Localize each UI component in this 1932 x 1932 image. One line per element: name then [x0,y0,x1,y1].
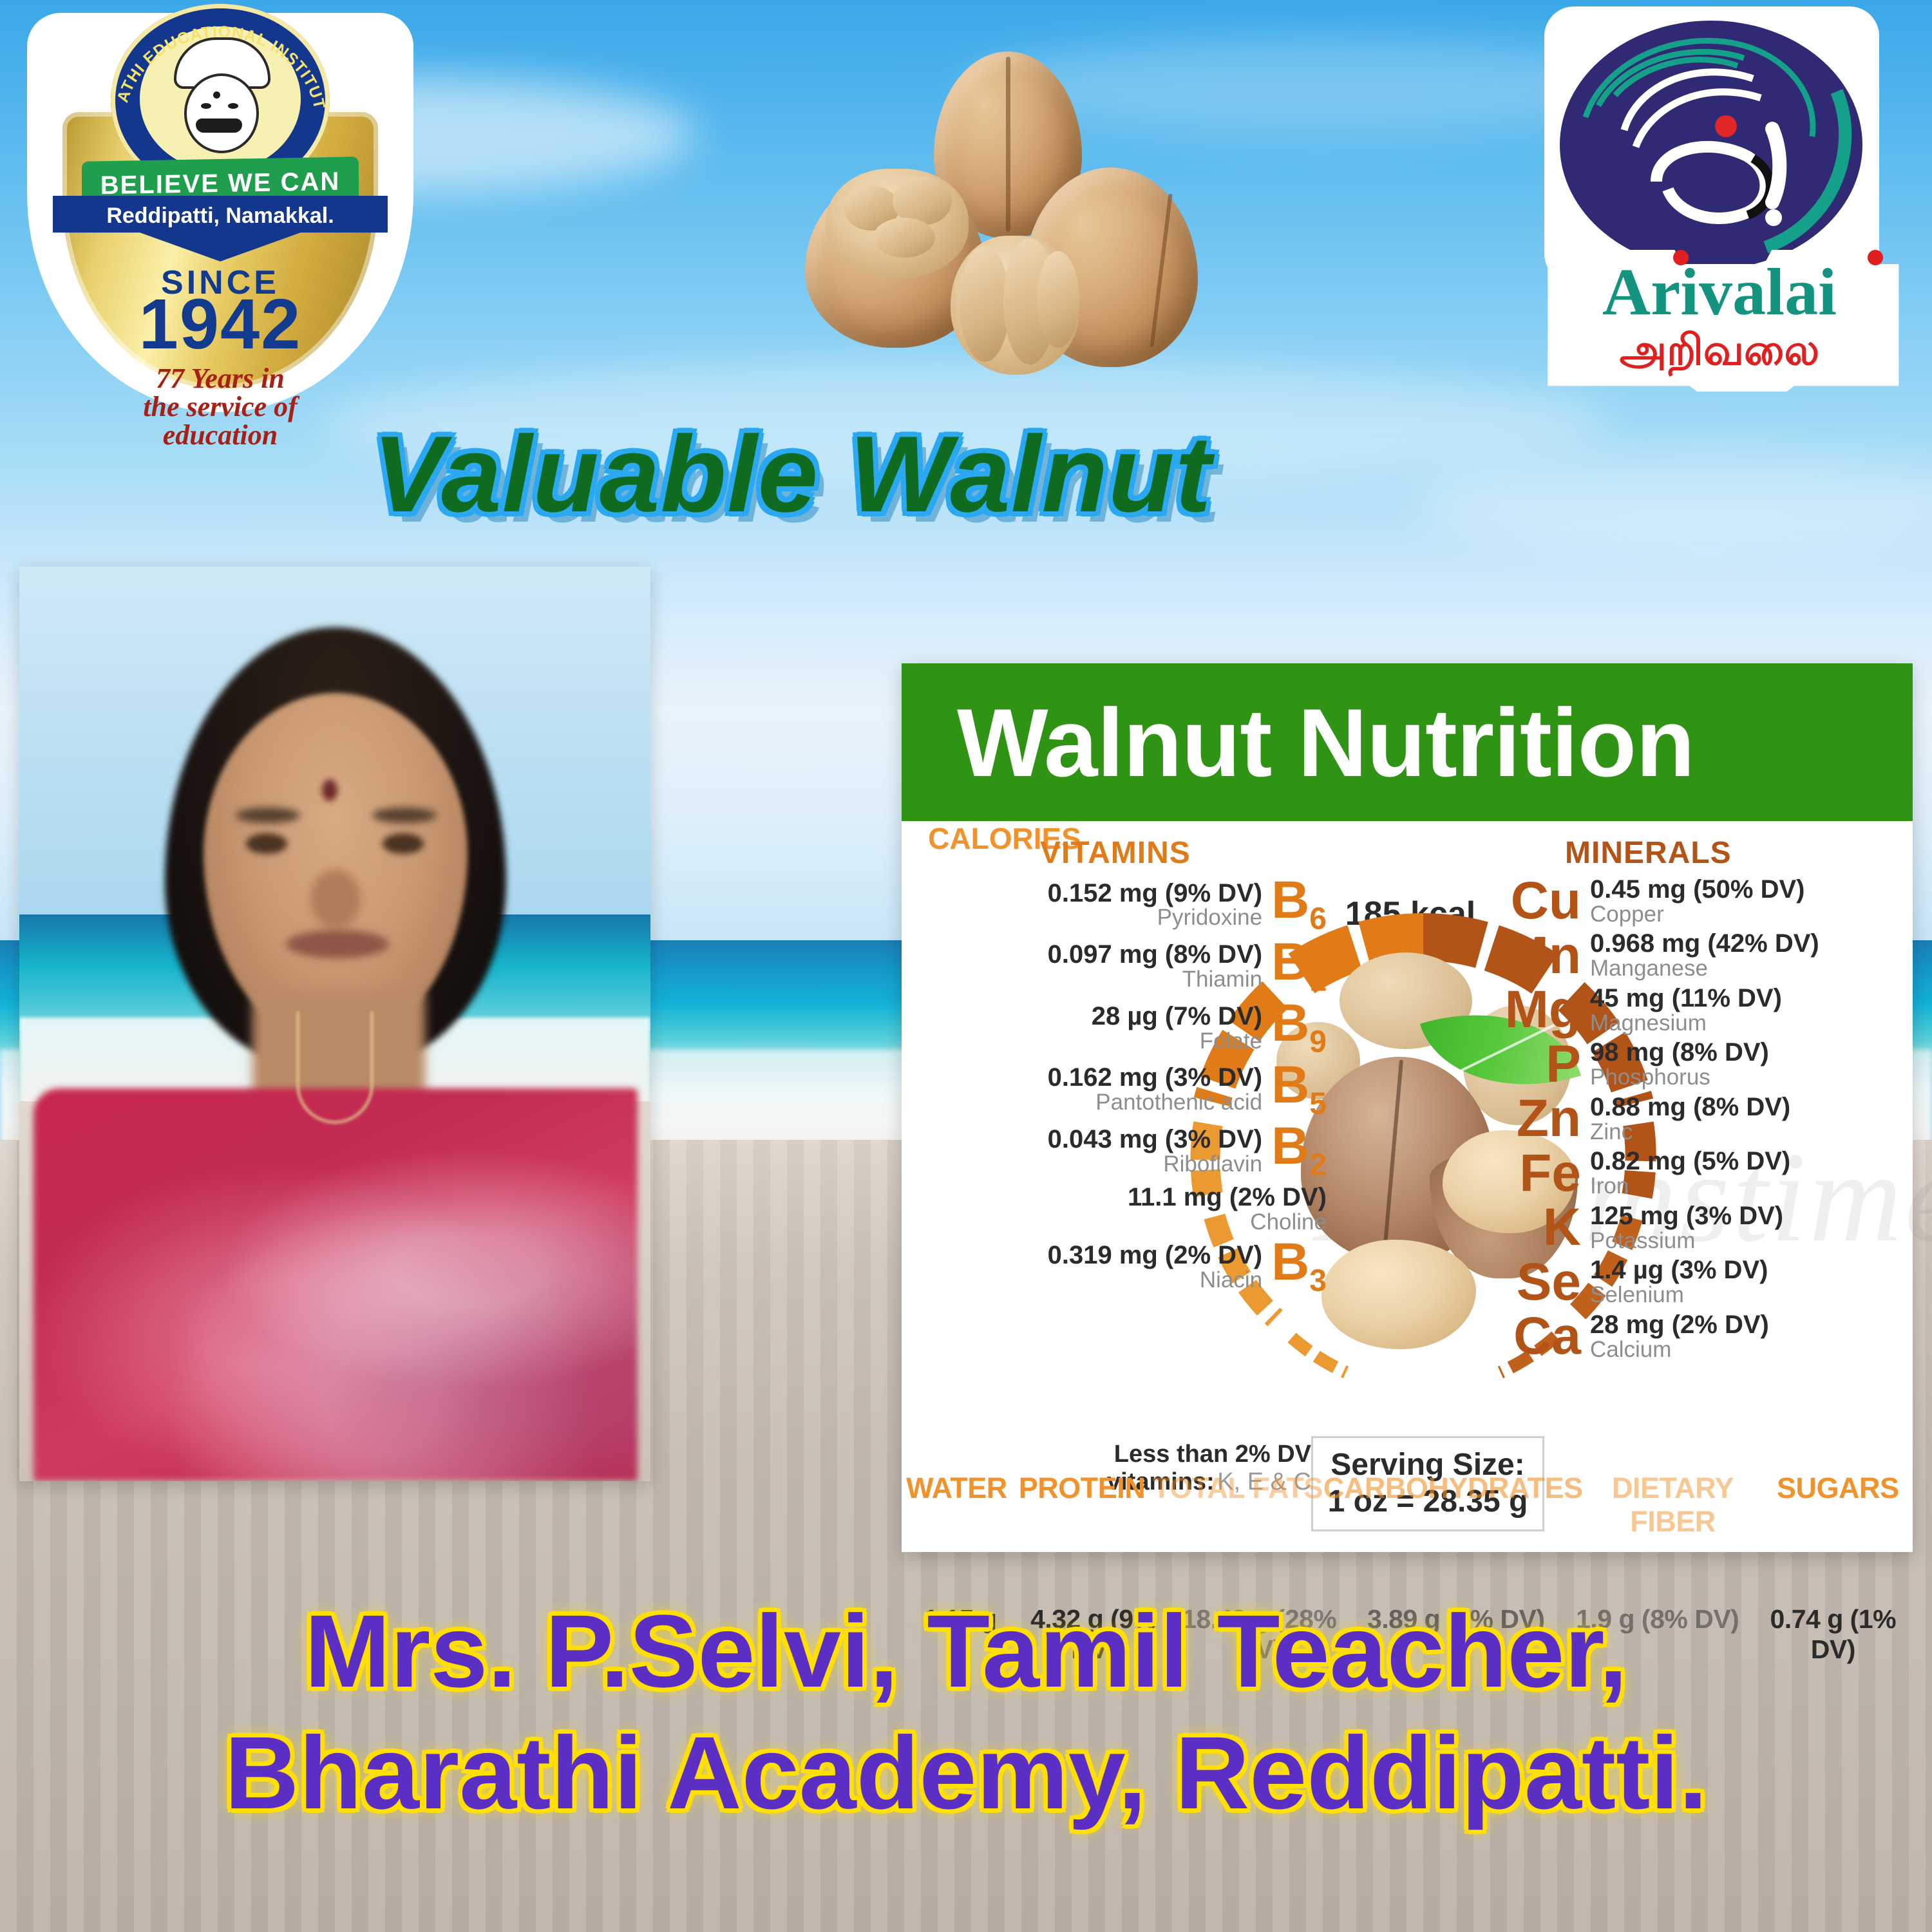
vitamin-row: 28 µg (7% DV)FolateB9 [902,999,1327,1056]
nutrient-amount: 0.88 mg (8% DV) [1590,1094,1790,1121]
nutrient-name: Choline [1250,1211,1327,1234]
nutrient-name: Phosphorus [1590,1066,1710,1089]
face-shape [184,73,259,153]
arivalai-emblem-icon [1560,21,1862,269]
photo-lips [286,930,389,958]
page-title: Valuable Walnut [0,412,1584,536]
nutrient-symbol: Mn [1484,932,1581,980]
macro-label: PROTEIN [1012,1472,1152,1505]
photo-eyebrow-right [372,808,437,823]
nutrient-symbol: B5 [1271,1061,1327,1118]
nutrient-symbol: B9 [1271,999,1327,1056]
nutrient-amount: 0.45 mg (50% DV) [1590,876,1804,903]
nutrient-text: 28 mg (2% DV)Calcium [1590,1312,1769,1361]
mineral-row: Fe0.82 mg (5% DV)Iron [1484,1148,1913,1197]
vitamins-section-label: VITAMINS [1040,835,1191,871]
nutrient-name: Riboflavin [1163,1153,1262,1176]
nutrient-amount: 0.319 mg (2% DV) [1048,1242,1262,1269]
arivalai-name-tamil: அறிவலை [1533,328,1906,371]
walnut-nutrition-card: Walnut Nutrition Dreamstime VITAMINS MIN… [902,663,1913,1552]
macro-label: SUGARS [1763,1472,1913,1505]
nutrient-text: 0.097 mg (8% DV)Thiamin [1048,942,1262,990]
nutrient-text: 28 µg (7% DV)Folate [1092,1003,1262,1052]
nutrient-text: 0.88 mg (8% DV)Zinc [1590,1094,1790,1143]
caption-line-2: Bharathi Academy, Reddipatti. [0,1712,1932,1834]
nutrient-amount: 28 µg (7% DV) [1092,1003,1262,1030]
nutrient-text: 0.968 mg (42% DV)Manganese [1590,931,1819,980]
nutrient-amount: 0.968 mg (42% DV) [1590,931,1819,957]
nutrient-amount: 45 mg (11% DV) [1590,985,1782,1012]
nutrient-amount: 98 mg (8% DV) [1590,1039,1769,1066]
teacher-portrait-photo [19,567,650,1481]
nutrient-amount: 0.043 mg (3% DV) [1048,1126,1262,1153]
vitamin-row: 0.152 mg (9% DV)PyridoxineB6 [902,876,1327,933]
macro-label: CARBOHYDRATES [1323,1472,1583,1505]
nutrient-name: Selenium [1590,1283,1684,1307]
nutrient-name: Manganese [1590,957,1708,980]
vitamin-row: 0.319 mg (2% DV)NiacinB3 [902,1238,1327,1295]
nutrient-symbol: B6 [1271,876,1327,933]
nutrient-amount: 0.097 mg (8% DV) [1048,942,1262,968]
vitamin-row: 0.097 mg (8% DV)ThiaminB1 [902,938,1327,995]
macro-header-cell: WATER [902,1472,1012,1600]
accent-dot [1868,250,1883,265]
nutrient-text: 0.162 mg (3% DV)Pantothenic acid [1048,1065,1262,1113]
nutrient-symbol: B1 [1271,938,1327,995]
nutrient-symbol: K [1484,1204,1581,1251]
photo-eye-right [383,833,424,854]
vitamins-list: 0.152 mg (9% DV)PyridoxineB60.097 mg (8%… [902,876,1327,1300]
nutrient-amount: 11.1 mg (2% DV) [1128,1184,1327,1211]
nutrient-amount: 28 mg (2% DV) [1590,1312,1769,1338]
motto-text: BELIEVE WE CAN [100,167,340,200]
nutrient-name: Copper [1590,903,1664,926]
photo-eye-left [246,833,287,854]
walnut-seam [1006,57,1010,232]
photo-nose [310,869,361,929]
mineral-row: Zn0.88 mg (8% DV)Zinc [1484,1094,1913,1143]
eye-right [228,103,238,109]
minerals-list: Cu0.45 mg (50% DV)CopperMn0.968 mg (42% … [1484,876,1913,1366]
walnut-lobe [960,246,1010,362]
nutrient-name: Thiamin [1182,968,1262,991]
nutrient-symbol: Ca [1484,1312,1581,1360]
mineral-row: Se1.4 µg (3% DV)Selenium [1484,1257,1913,1306]
nutrient-name: Pyridoxine [1157,906,1262,929]
photo-eyebrow-left [236,808,300,823]
nutrient-name: Iron [1590,1175,1629,1198]
nutrient-amount: 125 mg (3% DV) [1590,1203,1783,1229]
mineral-row: Mn0.968 mg (42% DV)Manganese [1484,931,1913,980]
mineral-row: Cu0.45 mg (50% DV)Copper [1484,876,1913,925]
nutrient-text: 0.043 mg (3% DV)Riboflavin [1048,1126,1262,1175]
nutrient-name: Calcium [1590,1338,1671,1361]
mineral-row: P98 mg (8% DV)Phosphorus [1484,1039,1913,1088]
nutrient-symbol: B2 [1271,1122,1327,1179]
credit-caption: Mrs. P.Selvi, Tamil Teacher, Bharathi Ac… [0,1591,1932,1834]
nutrient-symbol: Cu [1484,877,1581,925]
bharathi-institutions-logo: BHARATHI EDUCATIONAL INSTITUTIONS BELIEV… [14,3,426,428]
walnut-photo-top [766,45,1243,380]
macro-header-row: WATERPROTEINTOTAL FATSCARBOHYDRATESDIETA… [902,1472,1913,1600]
nutrient-text: 0.152 mg (9% DV)Pyridoxine [1048,880,1262,929]
mineral-row: K125 mg (3% DV)Potassium [1484,1203,1913,1252]
nutrient-text: 0.45 mg (50% DV)Copper [1590,876,1804,925]
mineral-row: Mg45 mg (11% DV)Magnesium [1484,985,1913,1034]
photo-face [204,693,468,1041]
nutrient-text: 98 mg (8% DV)Phosphorus [1590,1039,1769,1088]
macro-label: WATER [902,1472,1012,1505]
minerals-section-label: MINERALS [1565,835,1732,871]
nutrient-amount: 0.162 mg (3% DV) [1048,1065,1262,1091]
forehead-mark [213,91,220,99]
photo-bindi [322,779,337,801]
nutrient-text: 0.319 mg (2% DV)Niacin [1048,1242,1262,1291]
eye-left [201,103,211,109]
nutrient-amount: 0.152 mg (9% DV) [1048,880,1262,907]
nutrient-symbol: Se [1484,1258,1581,1306]
nutrient-text: 11.1 mg (2% DV)Choline [1128,1184,1327,1233]
macro-header-cell: PROTEIN [1012,1472,1152,1587]
nutrient-name: Zinc [1590,1121,1633,1144]
macro-header-cell: SUGARS [1763,1472,1913,1600]
nutrient-name: Niacin [1200,1269,1262,1292]
nutrient-text: 125 mg (3% DV)Potassium [1590,1203,1783,1252]
card-title: Walnut Nutrition [957,694,1694,791]
nutrient-symbol: P [1484,1041,1581,1088]
nutrient-text: 1.4 µg (3% DV)Selenium [1590,1257,1768,1306]
arivalai-logo: Arivalai அறிவலை [1533,6,1913,406]
vitamin-row: 0.043 mg (3% DV)RiboflavinB2 [902,1122,1327,1179]
less-than-line1: Less than 2% DV [1114,1441,1311,1468]
card-body: Dreamstime VITAMINS MINERALS CALORIES 18… [902,821,1913,1552]
moustache-shape [196,118,242,133]
service-line-1: 77 Years in [14,363,426,394]
nutrient-name: Folate [1200,1030,1262,1053]
vitamin-row: 11.1 mg (2% DV)Choline [902,1184,1327,1233]
nutrient-amount: 1.4 µg (3% DV) [1590,1257,1768,1283]
accent-dot [1673,250,1689,265]
nutrient-symbol: Fe [1484,1150,1581,1197]
founding-year: 1942 [14,289,426,360]
macro-header-cell: TOTAL FATS [1152,1472,1323,1568]
walnut-kernel [1321,1240,1476,1349]
nutrient-symbol: Zn [1484,1095,1581,1142]
nutrient-name: Pantothenic acid [1095,1091,1262,1114]
nutrient-name: Magnesium [1590,1012,1707,1035]
nutrient-text: 0.82 mg (5% DV)Iron [1590,1148,1790,1197]
caption-line-1: Mrs. P.Selvi, Tamil Teacher, [0,1591,1932,1712]
nutrient-amount: 0.82 mg (5% DV) [1590,1148,1790,1175]
macro-label: DIETARY FIBER [1583,1472,1763,1539]
walnut-lobe [873,218,935,258]
macro-header-cell: CARBOHYDRATES [1323,1472,1583,1600]
walnut-lobe [1037,251,1079,348]
card-header-bar: Walnut Nutrition [902,663,1913,821]
macro-label: TOTAL FATS [1152,1472,1323,1505]
vitamin-row: 0.162 mg (3% DV)Pantothenic acidB5 [902,1061,1327,1118]
mineral-row: Ca28 mg (2% DV)Calcium [1484,1312,1913,1361]
photo-saree [33,1088,638,1481]
nutrient-name: Potassium [1590,1229,1695,1253]
poster-canvas: BHARATHI EDUCATIONAL INSTITUTIONS BELIEV… [0,0,1932,1932]
macro-header-cell: DIETARY FIBER [1583,1472,1763,1575]
nutrient-symbol: B3 [1271,1238,1327,1295]
photo-necklace [296,1011,374,1124]
arivalai-name: Arivalai [1533,259,1906,326]
bharathiyar-face-icon [167,37,270,153]
nutrient-symbol: Mg [1484,986,1581,1034]
nutrient-text: 45 mg (11% DV)Magnesium [1590,985,1782,1034]
